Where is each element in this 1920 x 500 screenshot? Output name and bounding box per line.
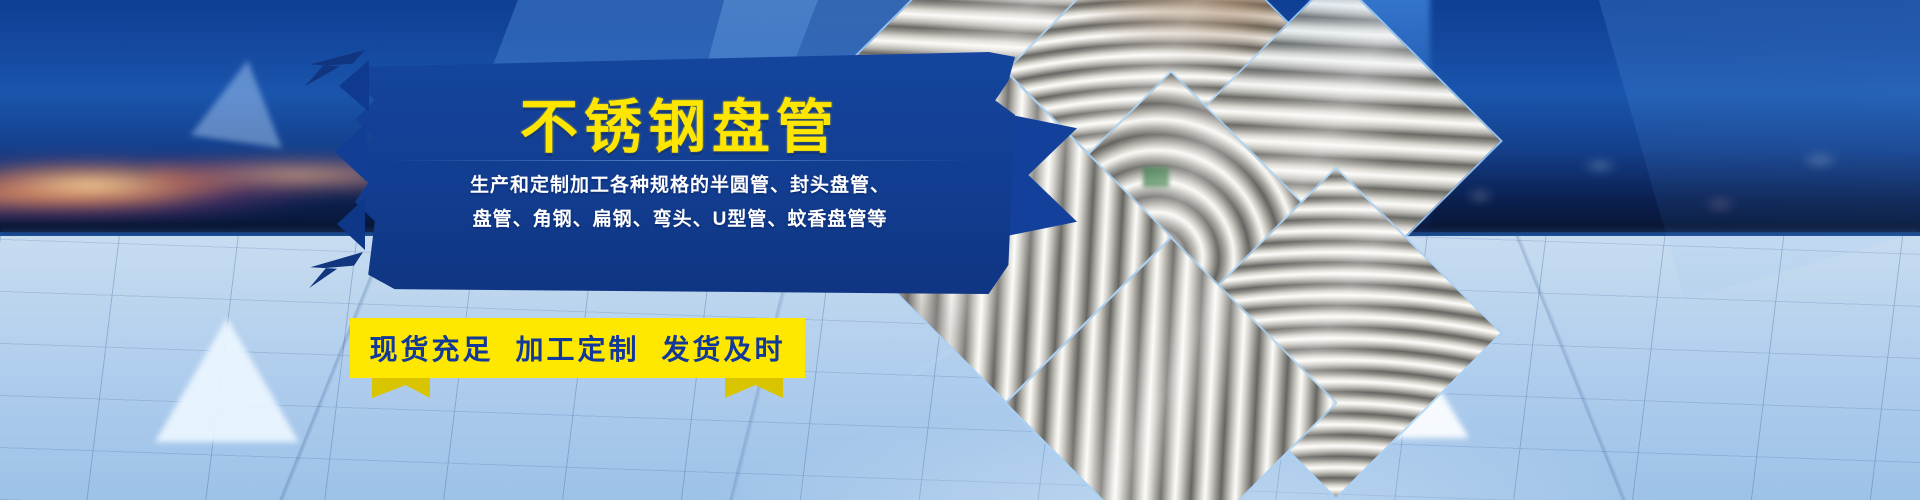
subtitle-line-2: 盘管、角钢、扁钢、弯头、U型管、蚊香盘管等 xyxy=(345,204,1015,231)
subtitle-line-1: 生产和定制加工各种规格的半圆管、封头盘管、 xyxy=(345,170,1015,197)
floor-triangle-left-icon xyxy=(155,318,299,442)
product-photo-diamond-grid xyxy=(1020,0,1540,500)
headline-panel: 不锈钢盘管 生产和定制加工各种规格的半圆管、封头盘管、 盘管、角钢、扁钢、弯头、… xyxy=(345,52,1015,294)
selling-point-3: 发货及时 xyxy=(662,328,786,368)
selling-point-1: 现货充足 xyxy=(369,328,493,368)
panel-divider xyxy=(385,160,975,161)
selling-point-2: 加工定制 xyxy=(515,328,639,368)
sky-triangle-icon xyxy=(191,54,294,148)
product-banner: 不锈钢盘管 生产和定制加工各种规格的半圆管、封头盘管、 盘管、角钢、扁钢、弯头、… xyxy=(0,0,1920,500)
ribbon-text-row: 现货充足 加工定制 发货及时 xyxy=(350,318,805,378)
selling-points-ribbon: 现货充足 加工定制 发货及时 xyxy=(350,318,805,398)
page-title: 不锈钢盘管 xyxy=(345,80,1015,164)
